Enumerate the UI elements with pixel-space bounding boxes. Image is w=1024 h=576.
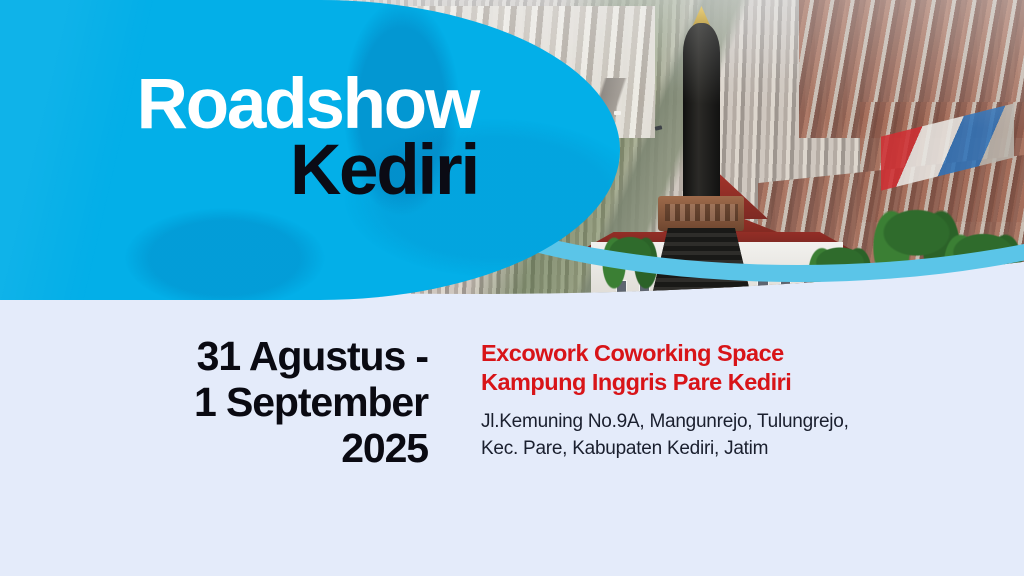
event-date: 31 Agustus - 1 September 2025	[0, 334, 428, 472]
event-date-line-1: 31 Agustus -	[0, 334, 428, 380]
venue-name-line-1: Excowork Coworking Space	[481, 339, 951, 368]
event-venue: Excowork Coworking Space Kampung Inggris…	[481, 339, 951, 463]
page-title: Roadshow Kediri	[0, 72, 478, 204]
venue-name-line-2: Kampung Inggris Pare Kediri	[481, 368, 951, 397]
venue-address-line-2: Kec. Pare, Kabupaten Kediri, Jatim	[481, 436, 951, 463]
title-line-roadshow: Roadshow	[0, 72, 478, 138]
town-hall-window	[803, 280, 815, 297]
title-line-kediri: Kediri	[0, 138, 478, 204]
roadshow-event-banner: Roadshow Kediri 31 Agustus - 1 September…	[0, 0, 1024, 576]
vehicle	[614, 111, 621, 115]
hero-section: Roadshow Kediri	[0, 0, 1024, 300]
town-hall-window	[757, 280, 769, 297]
event-date-line-3: 2025	[0, 426, 428, 472]
venue-address-line-1: Jl.Kemuning No.9A, Mangunrejo, Tulungrej…	[481, 409, 951, 436]
event-date-line-2: 1 September	[0, 380, 428, 426]
venue-name: Excowork Coworking Space Kampung Inggris…	[481, 339, 951, 396]
venue-address: Jl.Kemuning No.9A, Mangunrejo, Tulungrej…	[481, 409, 951, 463]
town-hall-window	[780, 280, 792, 297]
